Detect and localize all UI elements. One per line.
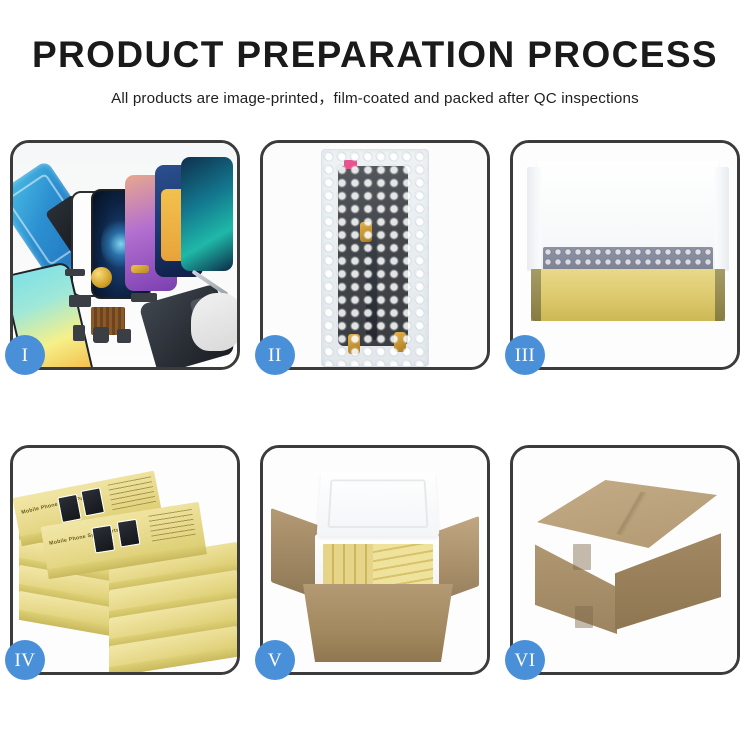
header: PRODUCT PREPARATION PROCESS All products… (0, 0, 750, 108)
panel-5-numeral-badge: V (255, 640, 295, 680)
panel-5-image (263, 448, 487, 672)
box-thumb-right-icon (117, 519, 141, 548)
box-thumb-right-icon (80, 487, 105, 516)
screw-set-icon (117, 329, 131, 343)
bubble-wrap-bag-icon (321, 149, 429, 367)
vibration-motor-icon (93, 327, 109, 343)
packed-yellow-boxes-angled-icon (373, 544, 433, 588)
product-preparation-infographic: PRODUCT PREPARATION PROCESS All products… (0, 0, 750, 750)
teal-wave-phone-icon (181, 157, 233, 271)
carton-body-icon (303, 584, 453, 662)
panel-6-numeral-badge: VI (505, 640, 545, 680)
hand-icon (191, 293, 237, 351)
page-title: PRODUCT PREPARATION PROCESS (0, 36, 750, 75)
process-panel-6[interactable]: VI (510, 445, 740, 675)
panel-1-numeral-badge: I (5, 335, 45, 375)
box-spec-lines-icon (108, 476, 156, 510)
panel-3-numeral-badge: III (505, 335, 545, 375)
battery-connector-icon (73, 325, 85, 341)
panel-3-image (513, 143, 737, 367)
kraft-tray-icon (531, 269, 725, 321)
bubble-texture-overlay (322, 150, 428, 366)
panel-1-image (13, 143, 237, 367)
process-panel-grid: I II I (10, 140, 740, 675)
panel-4-image: Mobile Phone Spare Parts Mobile Phone Sp… (13, 448, 237, 672)
panel-2-numeral-badge: II (255, 335, 295, 375)
process-panel-4[interactable]: Mobile Phone Spare Parts Mobile Phone Sp… (10, 445, 240, 675)
process-panel-5[interactable]: V (260, 445, 490, 675)
gold-speaker-component-icon (91, 267, 112, 288)
panel-2-image (263, 143, 487, 367)
process-panel-3[interactable]: III (510, 140, 740, 370)
box-spec-lines-icon (148, 509, 196, 542)
box-thumb-left-icon (91, 525, 115, 554)
foam-lid-icon (317, 472, 440, 536)
antenna-cable-icon (131, 293, 157, 302)
process-panel-2[interactable]: II (260, 140, 490, 370)
flex-cable-icon (69, 295, 91, 307)
carton-tape-lower-icon (575, 606, 593, 628)
carton-tape-upper-icon (573, 544, 591, 570)
panel-6-image (513, 448, 737, 672)
process-panel-1[interactable]: I (10, 140, 240, 370)
panel-4-numeral-badge: IV (5, 640, 45, 680)
page-subtitle: All products are image-printed，film-coat… (0, 86, 750, 108)
camera-module-icon (65, 269, 85, 276)
gold-flex-component-icon (131, 265, 149, 273)
